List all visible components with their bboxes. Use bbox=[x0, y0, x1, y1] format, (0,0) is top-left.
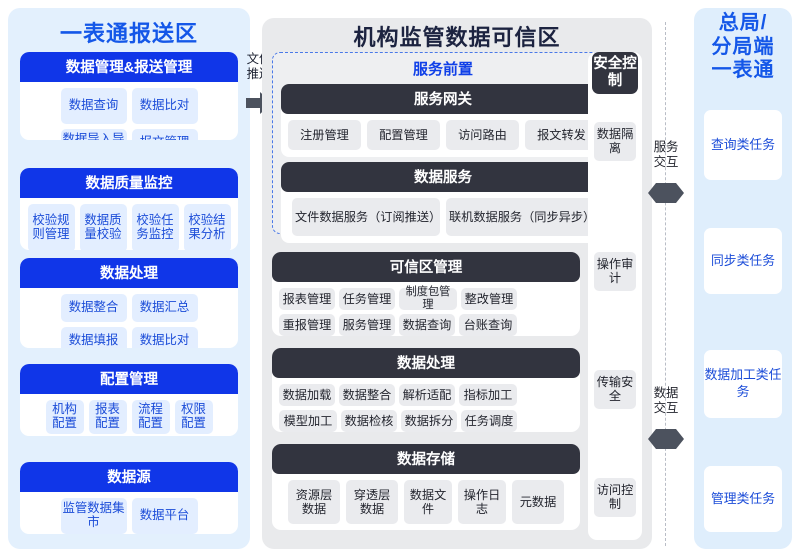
left-group-config-management[interactable]: 配置管理 机构配置 报表配置 流程配置 权限配置 报文配置 bbox=[20, 364, 238, 436]
right-title-line1: 总局/ bbox=[694, 12, 792, 36]
left-panel-title: 一表通报送区 bbox=[8, 16, 250, 48]
security-control-header: 安全控制 bbox=[592, 52, 638, 94]
security-chip-access-control[interactable]: 访问控制 bbox=[594, 478, 636, 517]
hex-double-arrow-icon bbox=[648, 428, 684, 450]
chip-flow-config[interactable]: 流程配置 bbox=[132, 400, 170, 434]
right-title-line3: 一表通 bbox=[694, 59, 792, 83]
chip-ledger-query[interactable]: 台账查询 bbox=[459, 314, 517, 336]
chip-data-query-c[interactable]: 数据查询 bbox=[399, 314, 455, 336]
left-group-data-processing[interactable]: 数据处理 数据整合 数据汇总 数据填报 数据比对 任务调度 任务监控 bbox=[20, 258, 238, 348]
data-storage-header: 数据存储 bbox=[272, 444, 580, 474]
chip-register-mgmt[interactable]: 注册管理 bbox=[288, 120, 361, 150]
chip-report-config[interactable]: 报表配置 bbox=[89, 400, 127, 434]
diagram-canvas: 一表通报送区 数据管理&报送管理 数据查询 数据比对 数据导入导出 报文管理 报… bbox=[0, 0, 800, 557]
chip-penetration-layer-data[interactable]: 穿透层数据 bbox=[346, 480, 398, 524]
chip-data-integration-c[interactable]: 数据整合 bbox=[339, 384, 395, 406]
chip-data-split[interactable]: 数据拆分 bbox=[401, 410, 457, 432]
chip-parse-adapt[interactable]: 解析适配 bbox=[399, 384, 455, 406]
chip-policy-package-mgmt[interactable]: 制度包管理 bbox=[399, 288, 457, 310]
center-data-processing-card[interactable]: 数据处理 数据加载 数据整合 解析适配 指标加工 模型加工 数据检核 数据拆分 … bbox=[272, 348, 580, 432]
data-storage-card[interactable]: 数据存储 资源层数据 穿透层数据 数据文件 操作日志 元数据 bbox=[272, 444, 580, 530]
left-group-header: 配置管理 bbox=[20, 364, 238, 394]
chip-operation-log[interactable]: 操作日志 bbox=[458, 480, 506, 524]
chip-regulatory-data-mart[interactable]: 监管数据集市 bbox=[61, 498, 127, 534]
chip-rectification-mgmt[interactable]: 整改管理 bbox=[461, 288, 517, 310]
chip-data-import-export[interactable]: 数据导入导出 bbox=[61, 129, 127, 140]
task-card-sync[interactable]: 同步类任务 bbox=[704, 228, 782, 294]
connector-service-interaction-label: 服务 交互 bbox=[650, 140, 682, 170]
chip-task-mgmt[interactable]: 任务管理 bbox=[339, 288, 395, 310]
security-chip-data-isolation[interactable]: 数据隔离 bbox=[594, 122, 636, 161]
chip-permission-config[interactable]: 权限配置 bbox=[175, 400, 213, 434]
chip-metadata[interactable]: 元数据 bbox=[512, 480, 564, 524]
left-group-data-management[interactable]: 数据管理&报送管理 数据查询 数据比对 数据导入导出 报文管理 报送监控 数据报… bbox=[20, 52, 238, 140]
center-panel-title: 机构监管数据可信区 bbox=[262, 20, 652, 52]
chip-resource-layer-data[interactable]: 资源层数据 bbox=[288, 480, 340, 524]
left-group-header: 数据处理 bbox=[20, 258, 238, 288]
chip-message-management[interactable]: 报文管理 bbox=[132, 129, 198, 140]
service-front-zone: 服务前置 服务网关 注册管理 配置管理 访问路由 报文转发 数据服务 文件数据服… bbox=[272, 52, 614, 234]
connector-label-line1: 服务 bbox=[650, 140, 682, 155]
left-group-header: 数据源 bbox=[20, 462, 238, 492]
trusted-zone-mgmt-card[interactable]: 可信区管理 报表管理 任务管理 制度包管理 整改管理 重报管理 服务管理 数据查… bbox=[272, 252, 580, 336]
task-card-management[interactable]: 管理类任务 bbox=[704, 466, 782, 532]
chip-data-integration[interactable]: 数据整合 bbox=[61, 294, 127, 322]
right-title-line2: 分局端 bbox=[694, 36, 792, 60]
chip-data-compare[interactable]: 数据比对 bbox=[132, 88, 198, 124]
chip-data-query[interactable]: 数据查询 bbox=[61, 88, 127, 124]
chip-service-mgmt[interactable]: 服务管理 bbox=[339, 314, 395, 336]
chip-report-mgmt[interactable]: 报表管理 bbox=[279, 288, 335, 310]
connector-label-line1: 数据 bbox=[650, 386, 682, 401]
chip-validation-rule-mgmt[interactable]: 校验规则管理 bbox=[28, 204, 75, 250]
chip-data-load[interactable]: 数据加载 bbox=[279, 384, 335, 406]
connector-data-interaction-label: 数据 交互 bbox=[650, 386, 682, 416]
data-service-header: 数据服务 bbox=[281, 162, 605, 192]
chip-data-file[interactable]: 数据文件 bbox=[404, 480, 452, 524]
chip-data-verification[interactable]: 数据检核 bbox=[341, 410, 397, 432]
chip-indicator-processing[interactable]: 指标加工 bbox=[459, 384, 517, 406]
chip-validation-result-analysis[interactable]: 校验结果分析 bbox=[184, 204, 231, 250]
chip-access-route[interactable]: 访问路由 bbox=[446, 120, 519, 150]
chip-data-aggregation[interactable]: 数据汇总 bbox=[132, 294, 198, 322]
service-gateway-card[interactable]: 服务网关 注册管理 配置管理 访问路由 报文转发 bbox=[281, 84, 605, 157]
chip-data-quality-check[interactable]: 数据质量校验 bbox=[80, 204, 127, 250]
left-group-header: 数据管理&报送管理 bbox=[20, 52, 238, 82]
security-chip-operation-audit[interactable]: 操作审计 bbox=[594, 252, 636, 291]
chip-org-config[interactable]: 机构配置 bbox=[46, 400, 84, 434]
chip-resubmit-mgmt[interactable]: 重报管理 bbox=[279, 314, 335, 336]
task-card-data-processing[interactable]: 数据加工类任务 bbox=[704, 350, 782, 418]
task-card-query[interactable]: 查询类任务 bbox=[704, 110, 782, 180]
left-group-data-source[interactable]: 数据源 监管数据集市 数据平台 补录数据 bbox=[20, 462, 238, 534]
center-data-processing-header: 数据处理 bbox=[272, 348, 580, 378]
left-group-header: 数据质量监控 bbox=[20, 168, 238, 198]
chip-online-data-service[interactable]: 联机数据服务（同步异步） bbox=[446, 198, 594, 236]
chip-file-data-service[interactable]: 文件数据服务（订阅推送） bbox=[292, 198, 440, 236]
security-control-title: 安全控制 bbox=[593, 56, 637, 89]
connector-label-line2: 交互 bbox=[650, 155, 682, 170]
chip-data-platform[interactable]: 数据平台 bbox=[132, 498, 198, 534]
data-service-card[interactable]: 数据服务 文件数据服务（订阅推送） 联机数据服务（同步异步） bbox=[281, 162, 605, 243]
chip-validation-task-monitor[interactable]: 校验任务监控 bbox=[132, 204, 179, 250]
security-chip-transmission-security[interactable]: 传输安全 bbox=[594, 370, 636, 409]
chip-model-processing[interactable]: 模型加工 bbox=[279, 410, 337, 432]
service-front-zone-title: 服务前置 bbox=[273, 53, 613, 79]
chip-config-mgmt[interactable]: 配置管理 bbox=[367, 120, 440, 150]
zone-divider bbox=[665, 22, 666, 546]
trusted-zone-mgmt-header: 可信区管理 bbox=[272, 252, 580, 282]
left-group-data-quality[interactable]: 数据质量监控 校验规则管理 数据质量校验 校验任务监控 校验结果分析 bbox=[20, 168, 238, 250]
chip-data-filling[interactable]: 数据填报 bbox=[61, 327, 127, 348]
connector-label-line2: 交互 bbox=[650, 401, 682, 416]
chip-task-schedule-c[interactable]: 任务调度 bbox=[461, 410, 517, 432]
hex-double-arrow-icon bbox=[648, 182, 684, 204]
right-panel-title: 总局/ 分局端 一表通 bbox=[694, 12, 792, 83]
service-gateway-header: 服务网关 bbox=[281, 84, 605, 114]
chip-data-compare-2[interactable]: 数据比对 bbox=[132, 327, 198, 348]
